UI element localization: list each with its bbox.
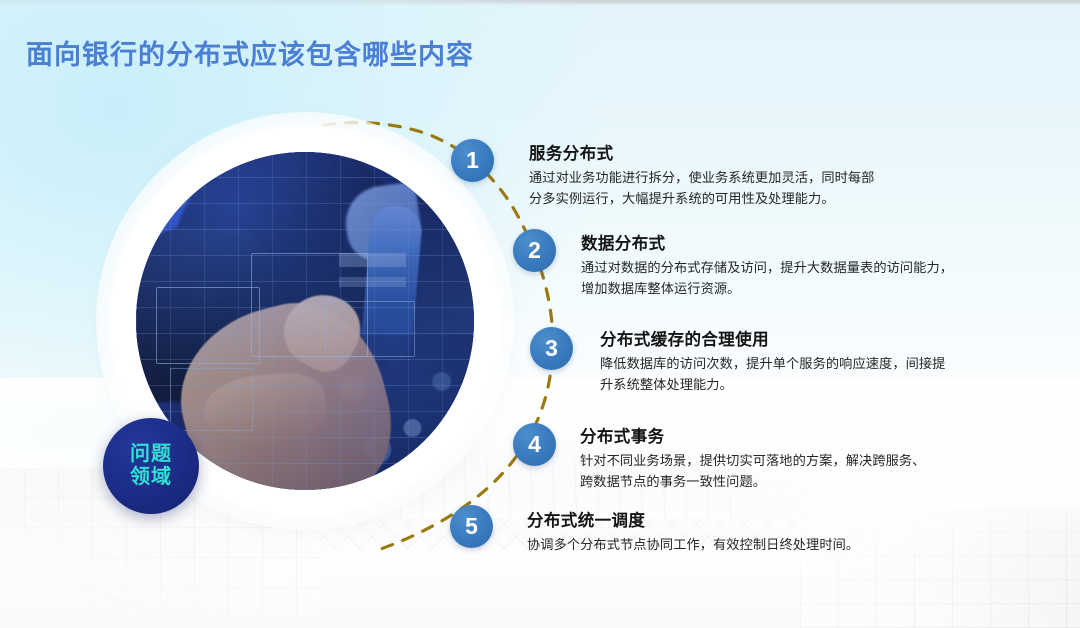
photo-hud-bar-2 xyxy=(339,277,407,287)
photo-suit xyxy=(170,152,413,382)
item-body-2: 通过对数据的分布式存储及访问，提升大数据量表的访问能力， 增加数据库整体运行资源… xyxy=(581,257,1051,299)
photo-collar xyxy=(341,181,425,265)
item-marker-1[interactable]: 1 xyxy=(451,139,494,182)
item-marker-5[interactable]: 5 xyxy=(450,505,493,548)
item-marker-4[interactable]: 4 xyxy=(513,423,556,466)
item-text-2: 数据分布式 通过对数据的分布式存储及访问，提升大数据量表的访问能力， 增加数据库… xyxy=(581,230,1051,299)
item-heading-2: 数据分布式 xyxy=(581,230,1051,254)
photo-hud-panel-1 xyxy=(156,287,259,363)
item-text-1: 服务分布式 通过对业务功能进行拆分，使业务系统更加灵活，同时每部 分多实例运行，… xyxy=(529,140,999,209)
photo-hud-panel-2 xyxy=(251,253,368,356)
page-title: 面向银行的分布式应该包含哪些内容 xyxy=(26,33,474,72)
item-marker-2[interactable]: 2 xyxy=(513,229,556,272)
slide-canvas: 面向银行的分布式应该包含哪些内容 问题 领域 xyxy=(0,0,1080,628)
photo-thumb xyxy=(200,369,328,449)
photo-hand xyxy=(163,286,407,490)
photo-shoulder xyxy=(136,226,278,402)
item-text-3: 分布式缓存的合理使用 降低数据库的访问次数，提升单个服务的响应速度，间接提 升系… xyxy=(600,326,1070,395)
item-heading-1: 服务分布式 xyxy=(529,140,999,164)
photo-hud-panel-3 xyxy=(325,301,415,357)
item-marker-3[interactable]: 3 xyxy=(530,327,573,370)
top-edge-strip xyxy=(0,0,1080,5)
badge-line-1: 问题 xyxy=(130,443,172,466)
item-body-1: 通过对业务功能进行拆分，使业务系统更加灵活，同时每部 分多实例运行，大幅提升系统… xyxy=(529,167,999,209)
badge-line-2: 领域 xyxy=(130,466,172,489)
item-heading-4: 分布式事务 xyxy=(580,423,1050,447)
item-body-4: 针对不同业务场景，提供切实可落地的方案，解决跨服务、 跨数据节点的事务一致性问题… xyxy=(580,450,1050,492)
photo-gears xyxy=(312,335,474,490)
item-body-5: 协调多个分布式节点协同工作，有效控制日终处理时间。 xyxy=(527,534,997,555)
item-heading-3: 分布式缓存的合理使用 xyxy=(600,326,1070,350)
photo-finger xyxy=(271,280,373,382)
item-heading-5: 分布式统一调度 xyxy=(527,507,997,531)
item-body-3: 降低数据库的访问次数，提升单个服务的响应速度，间接提 升系统整体处理能力。 xyxy=(600,353,1070,395)
photo-hud-panel-4 xyxy=(170,368,253,431)
item-text-4: 分布式事务 针对不同业务场景，提供切实可落地的方案，解决跨服务、 跨数据节点的事… xyxy=(580,423,1050,492)
photo-necktie xyxy=(359,204,423,363)
problem-domain-badge: 问题 领域 xyxy=(103,418,199,514)
item-text-5: 分布式统一调度 协调多个分布式节点协同工作，有效控制日终处理时间。 xyxy=(527,507,997,555)
photo-hud-bar-1 xyxy=(339,253,407,267)
